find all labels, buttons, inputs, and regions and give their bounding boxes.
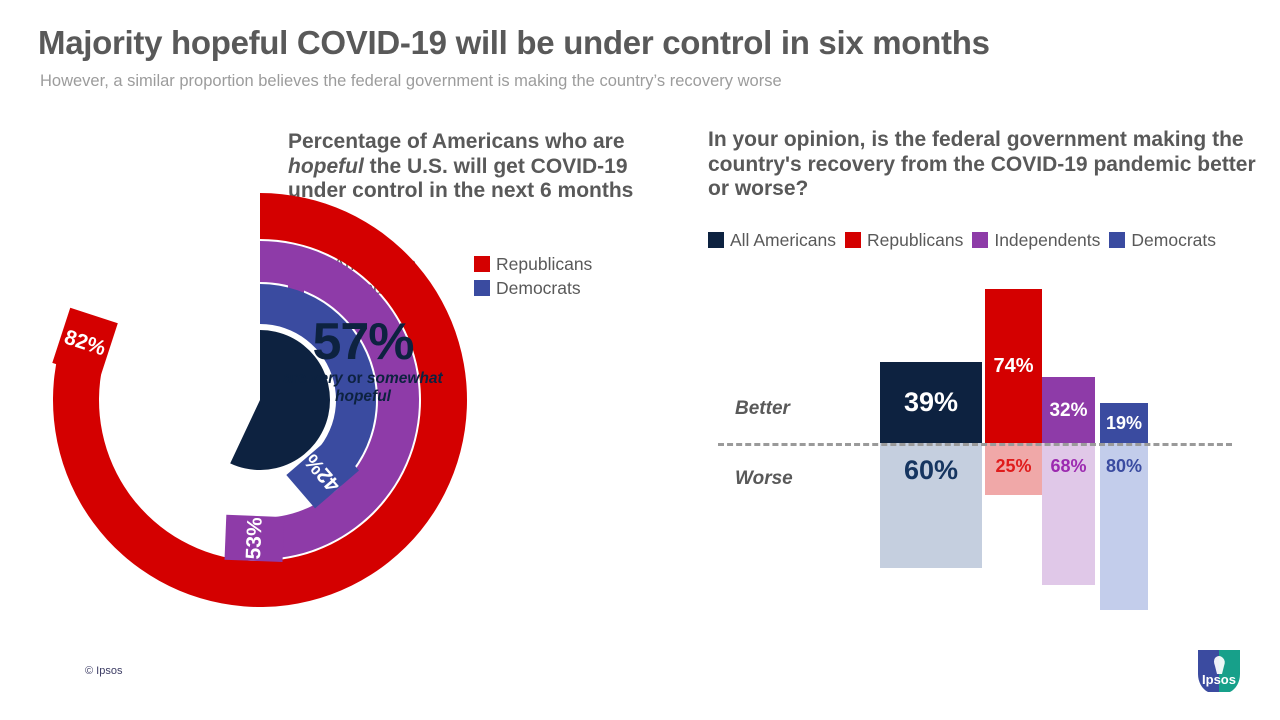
ipsos-logo: Ipsos — [1196, 648, 1242, 694]
bar-value-label: 80% — [1106, 457, 1142, 610]
legend-label: Republicans — [867, 230, 963, 251]
bar-better-all-americans: 39% — [880, 362, 982, 443]
bar-value-label: 74% — [993, 356, 1033, 376]
better-worse-bar-chart: Better Worse 39%60%74%25%32%68%19%80% — [700, 260, 1260, 640]
legend-swatch-icon — [845, 232, 861, 248]
svg-text:Ipsos: Ipsos — [1202, 672, 1236, 687]
bar-worse-democrats: 80% — [1100, 443, 1148, 610]
copyright-text: © Ipsos — [85, 665, 122, 677]
bar-value-label: 25% — [995, 457, 1031, 495]
legend-item[interactable]: Democrats — [474, 276, 660, 300]
bar-better-democrats: 19% — [1100, 403, 1148, 443]
bar-better-independents: 32% — [1042, 377, 1095, 443]
axis-label-worse: Worse — [735, 468, 793, 490]
bar-value-label: 39% — [904, 389, 958, 416]
bar-value-label: 19% — [1106, 414, 1142, 432]
title-emphasis: hopeful — [288, 155, 364, 178]
legend-label: Democrats — [496, 278, 581, 299]
donut-center-caption: are very or somewhat hopeful — [278, 370, 448, 405]
legend-label: Democrats — [1131, 230, 1216, 251]
legend-label: Independents — [994, 230, 1100, 251]
page-subtitle: However, a similar proportion believes t… — [40, 72, 1250, 92]
bar-value-label: 60% — [904, 457, 958, 568]
bar-worse-all-americans: 60% — [880, 443, 982, 568]
right-chart-title: In your opinion, is the federal governme… — [708, 128, 1256, 202]
legend-swatch-icon — [972, 232, 988, 248]
legend-swatch-icon — [708, 232, 724, 248]
right-chart-legend: All AmericansRepublicansIndependentsDemo… — [708, 228, 1268, 252]
legend-label: All Americans — [730, 230, 836, 251]
legend-swatch-icon — [474, 256, 490, 272]
donut-center-value: 57% — [278, 318, 448, 367]
bar-worse-republicans: 25% — [985, 443, 1042, 495]
bar-value-label: 68% — [1050, 457, 1086, 585]
donut-label-independents: 53% — [225, 515, 285, 562]
legend-item[interactable]: Republicans — [474, 252, 660, 276]
legend-swatch-icon — [1109, 232, 1125, 248]
legend-item[interactable]: Independents — [972, 228, 1100, 252]
donut-center-annotation: 57% are very or somewhat hopeful — [278, 318, 448, 405]
legend-item[interactable]: All Americans — [708, 228, 836, 252]
zero-baseline — [718, 443, 1232, 446]
bar-worse-independents: 68% — [1042, 443, 1095, 585]
legend-label: Republicans — [496, 254, 592, 275]
legend-swatch-icon — [474, 280, 490, 296]
page-title: Majority hopeful COVID-19 will be under … — [38, 26, 1248, 61]
legend-item[interactable]: Republicans — [845, 228, 963, 252]
donut-value-text: 53% — [242, 517, 267, 560]
bar-value-label: 32% — [1049, 401, 1087, 420]
axis-label-better: Better — [735, 398, 790, 420]
bar-better-republicans: 74% — [985, 289, 1042, 443]
legend-item[interactable]: Democrats — [1109, 228, 1216, 252]
